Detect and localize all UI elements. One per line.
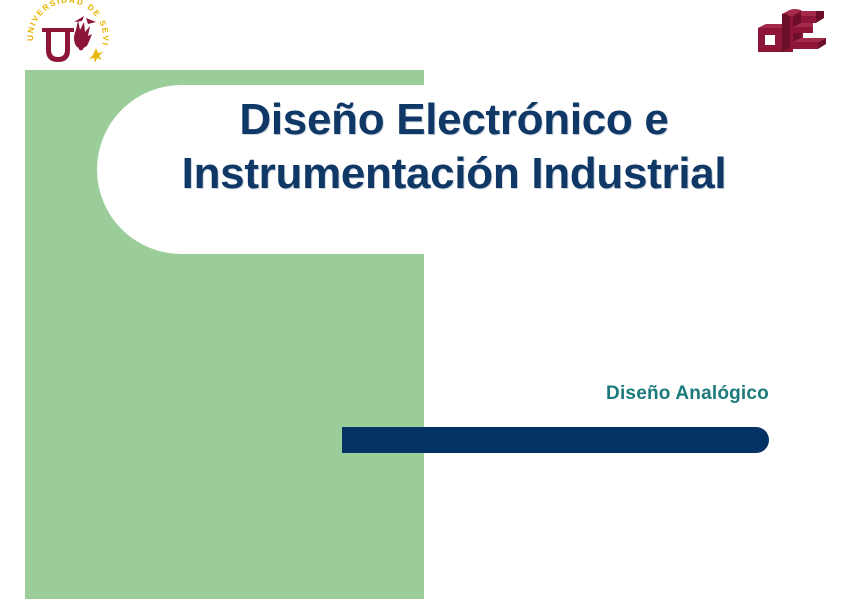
page-title: Diseño Electrónico e Instrumentación Ind… [60, 98, 848, 196]
title-slide: Diseño Electrónico e Instrumentación Ind… [0, 0, 848, 599]
title-line-1: Diseño Electrónico e [60, 98, 848, 142]
accent-rule-bar [342, 427, 769, 453]
subtitle-text: Diseño Analógico [0, 383, 769, 405]
departamento-electronica-logo [752, 6, 828, 56]
title-line-2: Instrumentación Industrial [60, 152, 848, 196]
universidad-de-sevilla-logo: UNIVERSIDAD DE SEVILLA [22, 0, 114, 68]
